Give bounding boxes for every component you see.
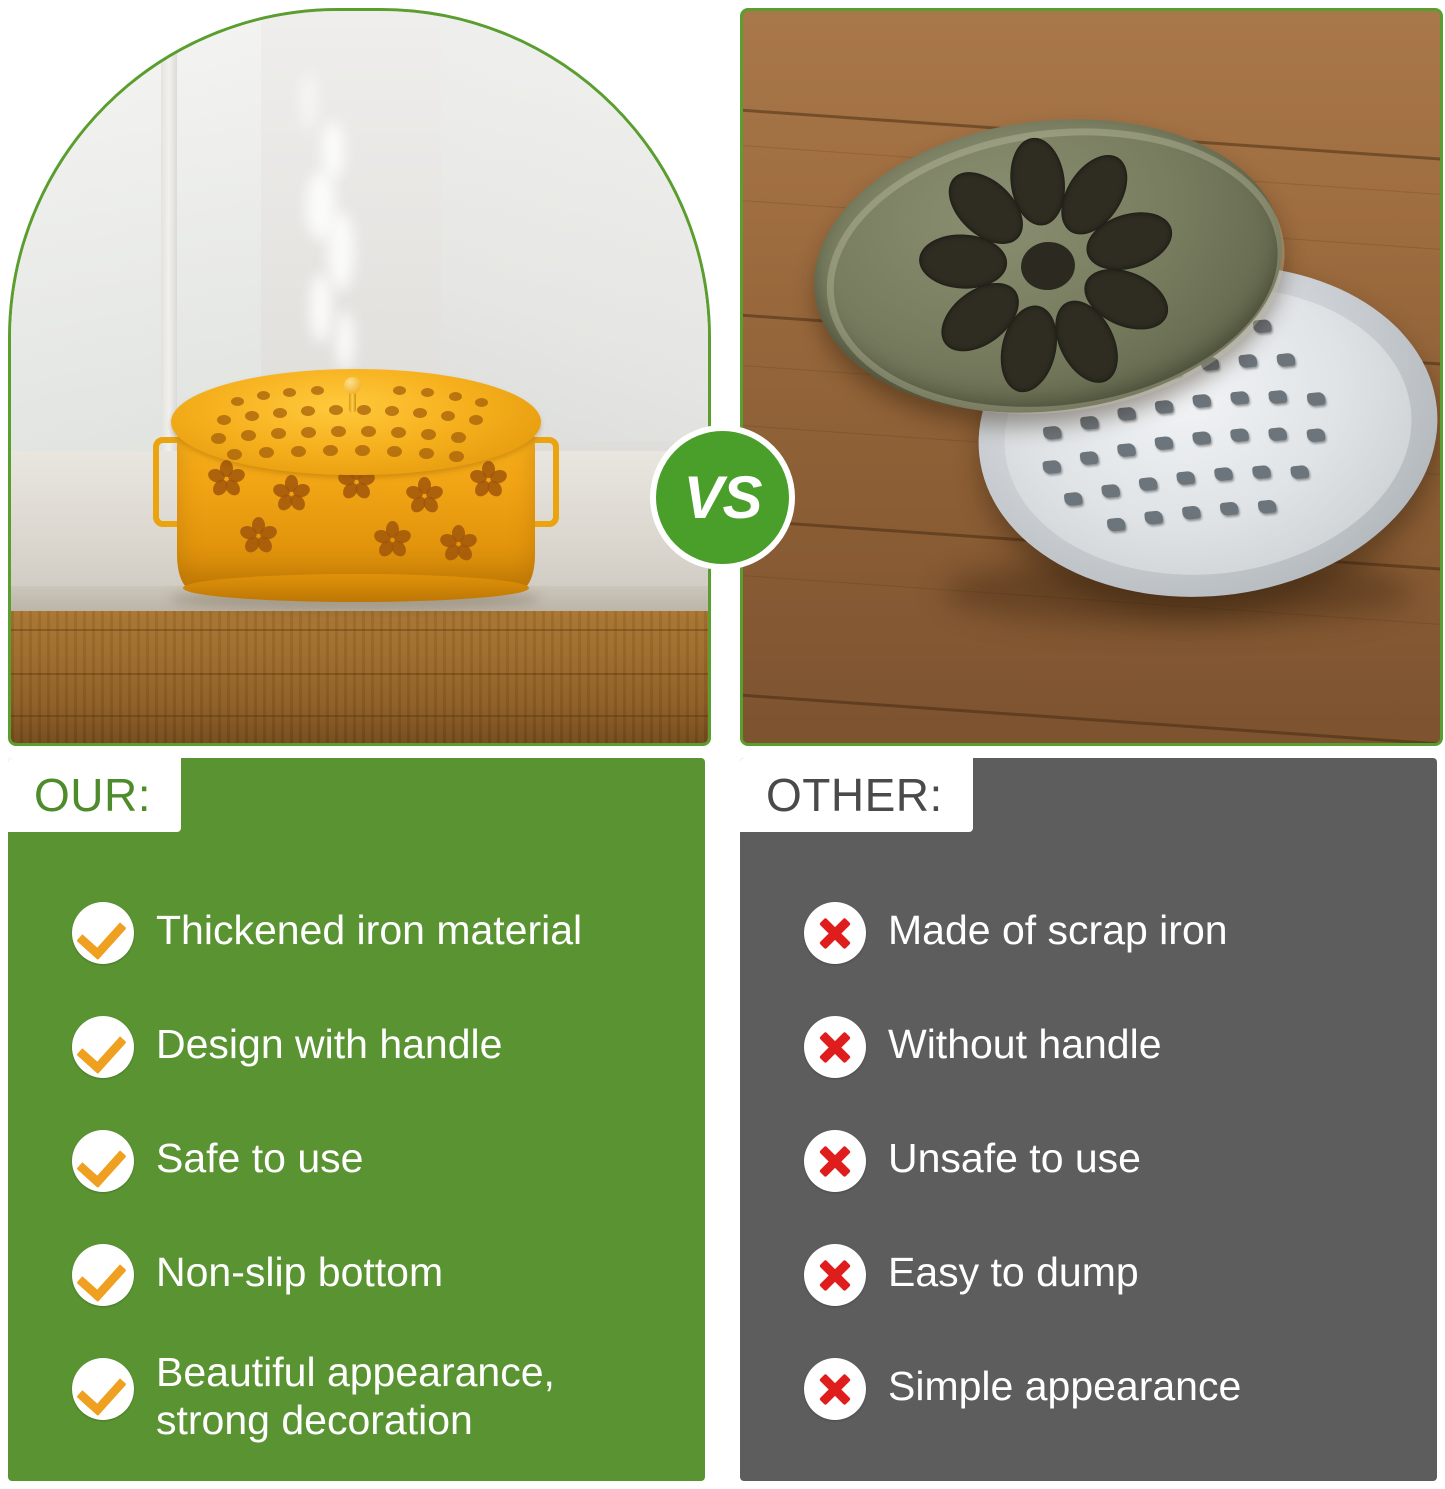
holder-base bbox=[183, 574, 529, 602]
feature-label: Unsafe to use bbox=[888, 1116, 1141, 1182]
check-icon bbox=[72, 1358, 134, 1420]
vs-label: VS bbox=[650, 425, 795, 570]
check-icon bbox=[72, 902, 134, 964]
check-icon bbox=[72, 1244, 134, 1306]
feature-label: Thickened iron material bbox=[156, 888, 582, 954]
list-item: Without handle bbox=[754, 1002, 1423, 1106]
list-item: Non-slip bottom bbox=[22, 1230, 691, 1334]
lid-knob-stem bbox=[349, 391, 356, 413]
list-item: Made of scrap iron bbox=[754, 888, 1423, 992]
list-item: Beautiful appearance, strong decoration bbox=[22, 1344, 691, 1448]
yellow-coil-holder bbox=[161, 359, 551, 609]
list-item: Simple appearance bbox=[754, 1344, 1423, 1448]
other-panel: OTHER: Made of scrap iron Without handle… bbox=[740, 758, 1437, 1481]
feature-label: Simple appearance bbox=[888, 1344, 1241, 1410]
our-panel-title: OUR: bbox=[34, 769, 151, 821]
list-item: Design with handle bbox=[22, 1002, 691, 1106]
other-feature-list: Made of scrap iron Without handle Unsafe… bbox=[740, 888, 1437, 1458]
list-item: Safe to use bbox=[22, 1116, 691, 1220]
feature-panels: OUR: Thickened iron material Design with… bbox=[0, 758, 1445, 1489]
feature-label: Non-slip bottom bbox=[156, 1230, 443, 1296]
cross-icon bbox=[804, 1358, 866, 1420]
comparison-infographic: VS OUR: Thickened iron material Design w… bbox=[0, 0, 1445, 1489]
our-feature-list: Thickened iron material Design with hand… bbox=[8, 888, 705, 1458]
cross-icon bbox=[804, 1016, 866, 1078]
list-item: Easy to dump bbox=[754, 1230, 1423, 1334]
vs-badge: VS bbox=[650, 425, 795, 570]
cross-icon bbox=[804, 902, 866, 964]
check-icon bbox=[72, 1130, 134, 1192]
cross-icon bbox=[804, 1130, 866, 1192]
wood-floor bbox=[11, 611, 708, 743]
feature-label: Made of scrap iron bbox=[888, 888, 1228, 954]
photo-row: VS bbox=[0, 0, 1445, 748]
feature-label: Beautiful appearance, strong decoration bbox=[156, 1344, 676, 1445]
cross-icon bbox=[804, 1244, 866, 1306]
our-panel: OUR: Thickened iron material Design with… bbox=[8, 758, 705, 1481]
our-panel-header: OUR: bbox=[8, 758, 181, 832]
feature-label: Safe to use bbox=[156, 1116, 363, 1182]
feature-label: Design with handle bbox=[156, 1002, 502, 1068]
feature-label: Without handle bbox=[888, 1002, 1162, 1068]
other-product-photo bbox=[740, 8, 1443, 746]
our-product-photo bbox=[8, 8, 711, 746]
lid-knob bbox=[344, 377, 361, 394]
check-icon bbox=[72, 1016, 134, 1078]
list-item: Unsafe to use bbox=[754, 1116, 1423, 1220]
feature-label: Easy to dump bbox=[888, 1230, 1139, 1296]
list-item: Thickened iron material bbox=[22, 888, 691, 992]
other-panel-header: OTHER: bbox=[740, 758, 973, 832]
other-panel-title: OTHER: bbox=[766, 769, 943, 821]
